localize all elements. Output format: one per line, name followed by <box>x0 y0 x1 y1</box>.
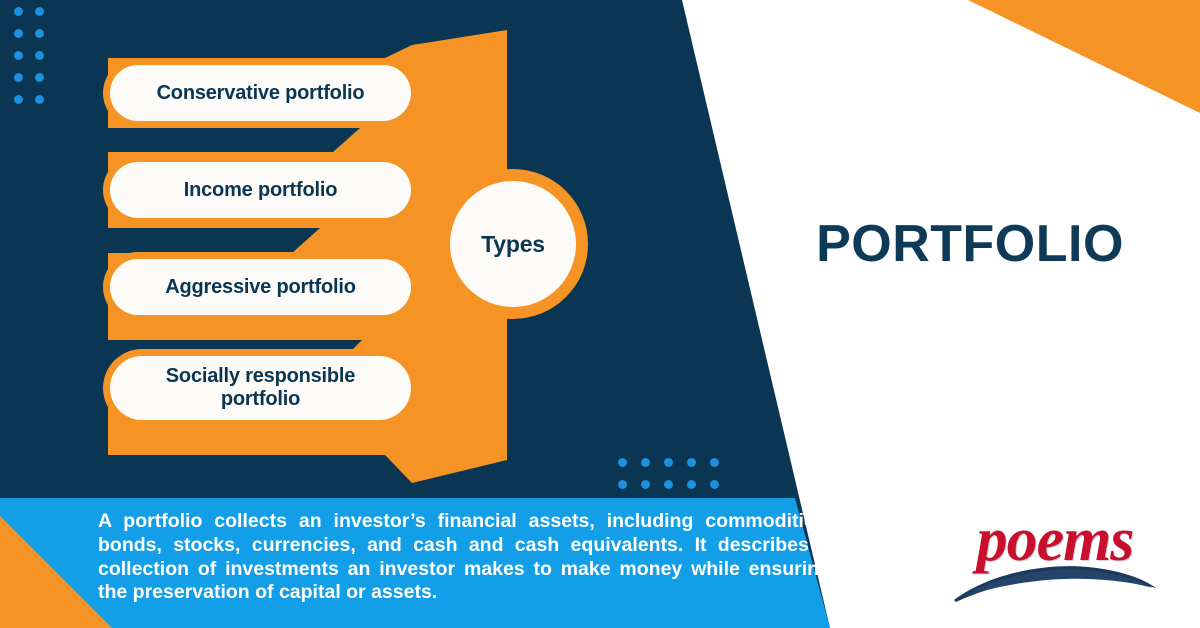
portfolio-type-socially-responsible[interactable]: Socially responsible portfolio <box>103 349 418 427</box>
infographic-canvas: Conservative portfolio Income portfolio … <box>0 0 1200 628</box>
dot <box>35 95 44 104</box>
dot <box>35 73 44 82</box>
portfolio-type-income[interactable]: Income portfolio <box>103 155 418 225</box>
dot <box>35 51 44 60</box>
pill-label: Socially responsible portfolio <box>124 365 397 411</box>
portfolio-type-aggressive[interactable]: Aggressive portfolio <box>103 252 418 322</box>
dot <box>710 458 719 467</box>
dot <box>14 73 23 82</box>
dot <box>641 458 650 467</box>
pill-body: Aggressive portfolio <box>110 259 411 315</box>
dot <box>35 29 44 38</box>
types-hub-label: Types <box>481 231 545 258</box>
page-title: PORTFOLIO <box>760 214 1180 274</box>
dot <box>14 51 23 60</box>
pill-label: Income portfolio <box>184 179 337 202</box>
dot <box>710 480 719 489</box>
brand-logo: poems <box>950 505 1160 605</box>
portfolio-type-conservative[interactable]: Conservative portfolio <box>103 58 418 128</box>
pill-label: Aggressive portfolio <box>165 276 355 299</box>
portfolio-type-list: Conservative portfolio Income portfolio … <box>103 58 418 427</box>
dot <box>687 480 696 489</box>
dot <box>664 480 673 489</box>
dot <box>641 480 650 489</box>
dot <box>14 29 23 38</box>
dot <box>664 458 673 467</box>
dot <box>687 458 696 467</box>
pill-body: Socially responsible portfolio <box>110 356 411 420</box>
pill-body: Conservative portfolio <box>110 65 411 121</box>
dot <box>35 7 44 16</box>
pill-body: Income portfolio <box>110 162 411 218</box>
dot <box>14 7 23 16</box>
brand-swoosh-icon <box>950 557 1160 605</box>
dot-grid-bottom-center <box>618 458 733 502</box>
description-paragraph: A portfolio collects an investor’s finan… <box>98 510 831 605</box>
dot <box>14 95 23 104</box>
pill-label: Conservative portfolio <box>157 82 365 105</box>
dot-grid-top-left <box>14 7 56 117</box>
dot <box>618 480 627 489</box>
types-hub-inner: Types <box>450 181 576 307</box>
dot <box>618 458 627 467</box>
types-hub-badge: Types <box>438 169 588 319</box>
